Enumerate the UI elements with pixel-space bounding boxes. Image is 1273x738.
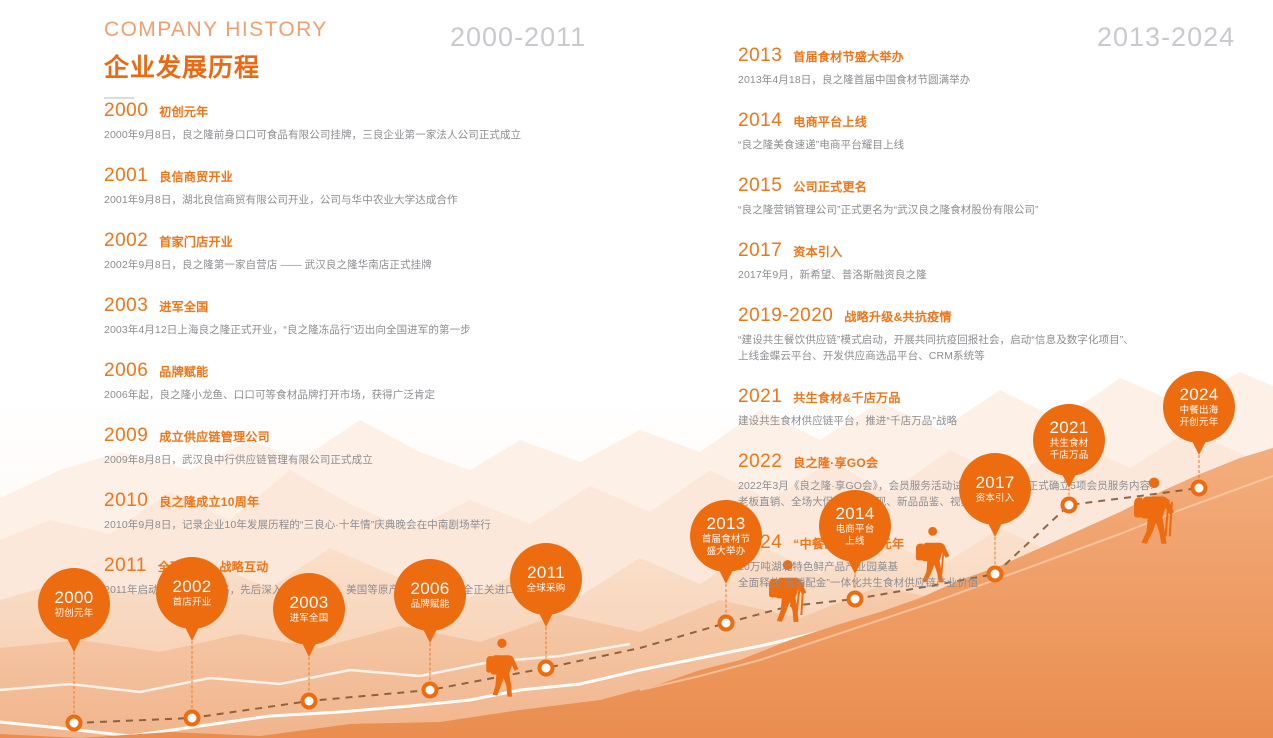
entry-title: 电商平台上线 bbox=[793, 113, 867, 130]
pin-year: 2017 bbox=[975, 473, 1014, 492]
pin-node[interactable] bbox=[847, 591, 864, 608]
entry-head: 2013首届食材节盛大举办 bbox=[738, 45, 1258, 67]
timeline-list-left: 2000初创元年2000年9月8日，良之隆前身口口可食品有限公司挂牌，三良企业第… bbox=[104, 100, 664, 620]
entry-title: 资本引入 bbox=[793, 243, 842, 260]
entry-head: 2014电商平台上线 bbox=[738, 110, 1258, 132]
entry-year: 2006 bbox=[104, 360, 148, 382]
pin-subtitle: 首届食材节 盛大举办 bbox=[702, 534, 751, 558]
entry-title: 良之隆·享GO会 bbox=[793, 454, 878, 471]
entry-year: 2015 bbox=[738, 175, 782, 197]
pin-bubble[interactable]: 2021共生食材 千店万品 bbox=[1033, 404, 1105, 476]
entry-desc: “良之隆营销管理公司”正式更名为“武汉良之隆食材股份有限公司” bbox=[738, 202, 1258, 218]
entry-desc: 2002年9月8日，良之隆第一家自营店 —— 武汉良之隆华南店正式挂牌 bbox=[104, 257, 664, 273]
entry-desc: 2001年9月8日，湖北良信商贸有限公司开业，公司与华中农业大学达成合作 bbox=[104, 192, 664, 208]
entry-title: 良信商贸开业 bbox=[159, 168, 233, 185]
timeline-entry: 2006品牌赋能2006年起，良之隆小龙鱼、口口可等食材品牌打开市场，获得广泛肯… bbox=[104, 360, 664, 403]
timeline-entry: 2015公司正式更名“良之隆营销管理公司”正式更名为“武汉良之隆食材股份有限公司… bbox=[738, 175, 1258, 218]
timeline-entry: 2014电商平台上线“良之隆美食速递”电商平台耀目上线 bbox=[738, 110, 1258, 153]
entry-title: 进军全国 bbox=[159, 298, 208, 315]
pin-subtitle: 全球采购 bbox=[527, 583, 566, 595]
pin-bubble[interactable]: 2014电商平台 上线 bbox=[819, 490, 891, 562]
entry-title: 共生食材&千店万品 bbox=[793, 389, 900, 406]
timeline-entry: 2024“中餐出海”开创元年10万吨湖北特色鲟产品产业园奠基 全面释放“展销配金… bbox=[738, 532, 1258, 591]
pin-subtitle: 首店开业 bbox=[173, 597, 212, 609]
timeline-entry: 2010良之隆成立10周年2010年9月8日，记录企业10年发展历程的“三良心·… bbox=[104, 490, 664, 533]
pin-bubble[interactable]: 2024中餐出海 开创元年 bbox=[1163, 371, 1235, 443]
entry-desc: 2009年8月8日，武汉良中行供应链管理有限公司正式成立 bbox=[104, 452, 664, 468]
entry-head: 2015公司正式更名 bbox=[738, 175, 1258, 197]
pin-bubble[interactable]: 2006品牌赋能 bbox=[394, 559, 466, 631]
timeline-pin[interactable]: 2011全球采购 bbox=[510, 543, 582, 615]
entry-year: 2011 bbox=[104, 555, 147, 577]
pin-stem bbox=[74, 652, 75, 723]
entry-head: 2017资本引入 bbox=[738, 240, 1258, 262]
entry-title: 战略升级&共抗疫情 bbox=[844, 308, 951, 325]
pin-node[interactable] bbox=[1191, 480, 1208, 497]
pin-bubble[interactable]: 2000初创元年 bbox=[38, 568, 110, 640]
pin-node[interactable] bbox=[1061, 497, 1078, 514]
entry-year: 2017 bbox=[738, 240, 782, 262]
pin-bubble[interactable]: 2017资本引入 bbox=[959, 453, 1031, 525]
entry-desc: 2013年4月18日，良之隆首届中国食材节圆满举办 bbox=[738, 72, 1258, 88]
timeline-entry: 2003进军全国2003年4月12日上海良之隆正式开业，“良之隆冻品行”迈出向全… bbox=[104, 295, 664, 338]
entry-year: 2021 bbox=[738, 386, 782, 408]
entry-title: 品牌赋能 bbox=[159, 363, 208, 380]
timeline-entry: 2017资本引入2017年9月，新希望、普洛斯融资良之隆 bbox=[738, 240, 1258, 283]
entry-desc: 2010年9月8日，记录企业10年发展历程的“三良心·十年情”庆典晚会在中南剧场… bbox=[104, 517, 664, 533]
pin-year: 2014 bbox=[835, 504, 874, 523]
timeline-pin[interactable]: 2017资本引入 bbox=[959, 453, 1031, 525]
pin-year: 2000 bbox=[54, 588, 93, 607]
pin-year: 2011 bbox=[527, 563, 565, 582]
timeline-pin[interactable]: 2000初创元年 bbox=[38, 568, 110, 640]
hiker-icon bbox=[486, 639, 518, 697]
entry-year: 2019-2020 bbox=[738, 305, 833, 327]
entry-year: 2022 bbox=[738, 451, 782, 473]
pin-year: 2021 bbox=[1049, 418, 1088, 437]
entry-title: 初创元年 bbox=[159, 103, 208, 120]
timeline-pin[interactable]: 2002首店开业 bbox=[156, 557, 228, 629]
pin-subtitle: 电商平台 上线 bbox=[836, 524, 875, 548]
pin-subtitle: 进军全国 bbox=[290, 613, 329, 625]
entry-head: 2009成立供应链管理公司 bbox=[104, 425, 664, 447]
timeline-pin[interactable]: 2024中餐出海 开创元年 bbox=[1163, 371, 1235, 443]
pin-stem bbox=[192, 641, 193, 718]
entry-title: 首届食材节盛大举办 bbox=[793, 48, 904, 65]
pin-bubble[interactable]: 2013首届食材节 盛大举办 bbox=[690, 500, 762, 572]
pin-node[interactable] bbox=[987, 566, 1004, 583]
entry-desc: 2000年9月8日，良之隆前身口口可食品有限公司挂牌，三良企业第一家法人公司正式… bbox=[104, 127, 664, 143]
entry-head: 2006品牌赋能 bbox=[104, 360, 664, 382]
entry-head: 2003进军全国 bbox=[104, 295, 664, 317]
timeline-entry: 2019-2020战略升级&共抗疫情“建设共生餐饮供应链”模式启动，开展共同抗疫… bbox=[738, 305, 1258, 364]
pin-node[interactable] bbox=[184, 710, 201, 727]
entry-head: 2019-2020战略升级&共抗疫情 bbox=[738, 305, 1258, 327]
entry-year: 2002 bbox=[104, 230, 148, 252]
pin-node[interactable] bbox=[301, 693, 318, 710]
timeline-entry: 2013首届食材节盛大举办2013年4月18日，良之隆首届中国食材节圆满举办 bbox=[738, 45, 1258, 88]
entry-year: 2010 bbox=[104, 490, 148, 512]
entry-year: 2001 bbox=[104, 165, 148, 187]
entry-head: 2010良之隆成立10周年 bbox=[104, 490, 664, 512]
entry-year: 2009 bbox=[104, 425, 148, 447]
entry-title: 公司正式更名 bbox=[793, 178, 867, 195]
pin-subtitle: 共生食材 千店万品 bbox=[1050, 438, 1089, 462]
pin-subtitle: 品牌赋能 bbox=[411, 599, 450, 611]
header-title-cn: 企业发展历程 bbox=[104, 48, 328, 84]
timeline-pin[interactable]: 2003进军全国 bbox=[273, 573, 345, 645]
pin-bubble[interactable]: 2002首店开业 bbox=[156, 557, 228, 629]
pin-year: 2013 bbox=[706, 514, 745, 533]
pin-year: 2002 bbox=[172, 577, 211, 596]
header-title-en: COMPANY HISTORY bbox=[104, 18, 328, 42]
entry-head: 2002首家门店开业 bbox=[104, 230, 664, 252]
timeline-pin[interactable]: 2013首届食材节 盛大举办 bbox=[690, 500, 762, 572]
entry-year: 2014 bbox=[738, 110, 782, 132]
entry-year: 2013 bbox=[738, 45, 782, 67]
pin-year: 2006 bbox=[410, 579, 449, 598]
entry-title: 成立供应链管理公司 bbox=[159, 428, 270, 445]
entry-year: 2003 bbox=[104, 295, 148, 317]
date-range-left: 2000-2011 bbox=[450, 22, 586, 53]
entry-title: 首家门店开业 bbox=[159, 233, 233, 250]
pin-subtitle: 中餐出海 开创元年 bbox=[1180, 405, 1219, 429]
entry-desc: “良之隆美食速递”电商平台耀目上线 bbox=[738, 137, 1258, 153]
pin-subtitle: 初创元年 bbox=[55, 608, 94, 620]
entry-desc: “建设共生餐饮供应链”模式启动，开展共同抗疫回报社会，启动“信息及数字化项目”、… bbox=[738, 332, 1258, 364]
entry-desc: 2017年9月，新希望、普洛斯融资良之隆 bbox=[738, 267, 1258, 283]
timeline-pin[interactable]: 2021共生食材 千店万品 bbox=[1033, 404, 1105, 476]
header-divider bbox=[104, 97, 134, 99]
timeline-entry: 2001良信商贸开业2001年9月8日，湖北良信商贸有限公司开业，公司与华中农业… bbox=[104, 165, 664, 208]
pin-year: 2003 bbox=[289, 593, 328, 612]
entry-head: 2001良信商贸开业 bbox=[104, 165, 664, 187]
timeline-pin[interactable]: 2014电商平台 上线 bbox=[819, 490, 891, 562]
timeline-entry: 2009成立供应链管理公司2009年8月8日，武汉良中行供应链管理有限公司正式成… bbox=[104, 425, 664, 468]
pin-node[interactable] bbox=[66, 715, 83, 732]
entry-head: 2000初创元年 bbox=[104, 100, 664, 122]
entry-desc: 2003年4月12日上海良之隆正式开业，“良之隆冻品行”迈出向全国进军的第一步 bbox=[104, 322, 664, 338]
pin-node[interactable] bbox=[538, 660, 555, 677]
entry-year: 2000 bbox=[104, 100, 148, 122]
pin-year: 2024 bbox=[1179, 385, 1218, 404]
entry-desc: 2006年起，良之隆小龙鱼、口口可等食材品牌打开市场，获得广泛肯定 bbox=[104, 387, 664, 403]
pin-bubble[interactable]: 2003进军全国 bbox=[273, 573, 345, 645]
timeline-pin[interactable]: 2006品牌赋能 bbox=[394, 559, 466, 631]
entry-title: 良之隆成立10周年 bbox=[159, 493, 259, 510]
timeline-entry: 2002首家门店开业2002年9月8日，良之隆第一家自营店 —— 武汉良之隆华南… bbox=[104, 230, 664, 273]
timeline-entry: 2000初创元年2000年9月8日，良之隆前身口口可食品有限公司挂牌，三良企业第… bbox=[104, 100, 664, 143]
pin-node[interactable] bbox=[422, 682, 439, 699]
pin-bubble[interactable]: 2011全球采购 bbox=[510, 543, 582, 615]
pin-subtitle: 资本引入 bbox=[976, 493, 1015, 505]
pin-node[interactable] bbox=[718, 615, 735, 632]
page-header: COMPANY HISTORY 企业发展历程 bbox=[104, 18, 328, 99]
